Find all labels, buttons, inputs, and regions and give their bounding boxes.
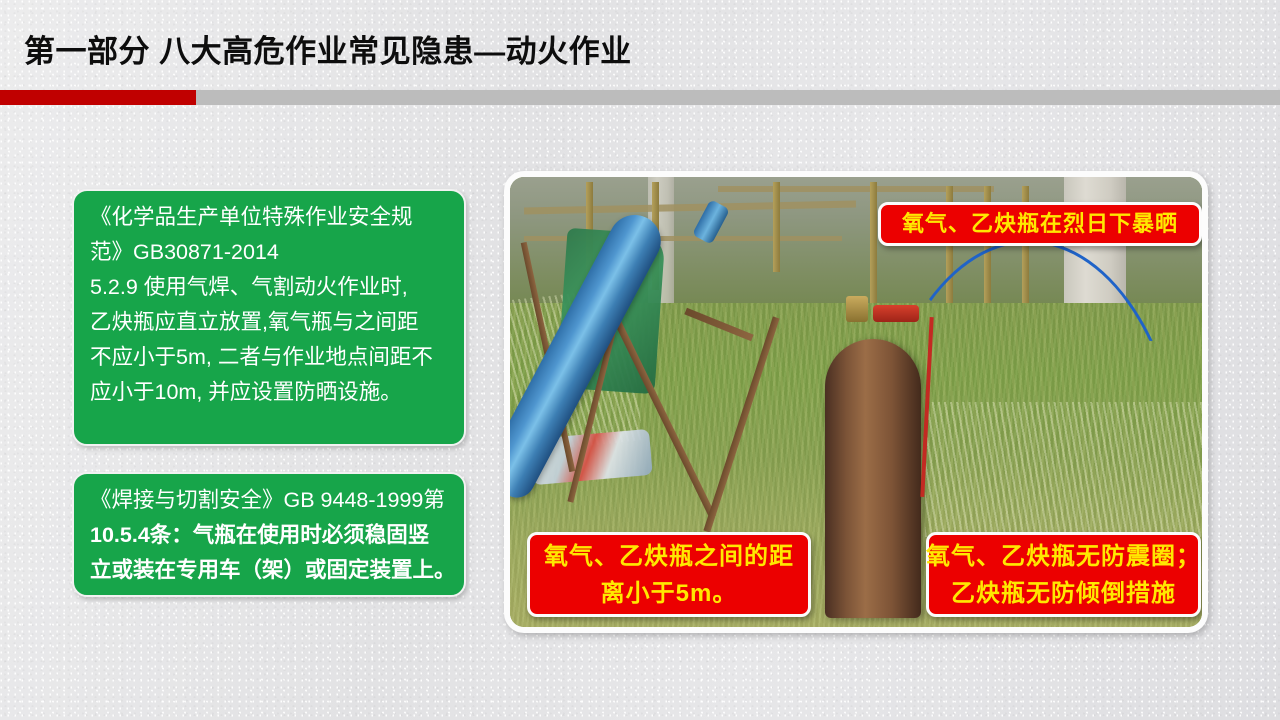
photo-scaffold-post xyxy=(870,182,877,317)
regulation-box-gb9448: 《焊接与切割安全》GB 9448-1999第 10.5.4条：气瓶在使用时必须稳… xyxy=(72,472,466,597)
callout-line: 离小于5m。 xyxy=(601,575,738,612)
slide-canvas: 第一部分 八大高危作业常见隐患—动火作业 《化学品生产单位特殊作业安全规 范》G… xyxy=(0,0,1280,720)
divider-track-segment xyxy=(196,90,1280,105)
regulation-line: 乙炔瓶应直立放置,氧气瓶与之间距 xyxy=(90,305,450,340)
regulation-line: 范》GB30871-2014 xyxy=(90,235,450,270)
callout-sun-exposure: 氧气、乙炔瓶在烈日下暴晒 xyxy=(878,202,1202,246)
callout-no-shock-ring: 氧气、乙炔瓶无防震圈； 乙炔瓶无防倾倒措施 xyxy=(926,532,1201,617)
photo-frame: 氧气、乙炔瓶在烈日下暴晒 氧气、乙炔瓶之间的距 离小于5m。 氧气、乙炔瓶无防震… xyxy=(504,171,1208,633)
callout-line: 氧气、乙炔瓶在烈日下暴晒 xyxy=(902,211,1178,237)
regulation-line: 立或装在专用车（架）或固定装置上。 xyxy=(90,553,450,588)
divider-accent-segment xyxy=(0,90,196,105)
regulation-box-gb30871: 《化学品生产单位特殊作业安全规 范》GB30871-2014 5.2.9 使用气… xyxy=(72,189,466,446)
photo-scaffold-post xyxy=(773,182,780,272)
regulation-line: 不应小于5m, 二者与作业地点间距不 xyxy=(90,340,450,375)
regulation-line: 5.2.9 使用气焊、气割动火作业时, xyxy=(90,270,450,305)
site-photo: 氧气、乙炔瓶在烈日下暴晒 氧气、乙炔瓶之间的距 离小于5m。 氧气、乙炔瓶无防震… xyxy=(510,177,1202,627)
page-title: 第一部分 八大高危作业常见隐患—动火作业 xyxy=(24,33,632,70)
title-divider-bar xyxy=(0,90,1280,105)
callout-line: 乙炔瓶无防倾倒措施 xyxy=(951,575,1176,612)
callout-line: 氧气、乙炔瓶无防震圈； xyxy=(926,538,1201,575)
regulation-line: 应小于10m, 并应设置防晒设施。 xyxy=(90,375,450,410)
regulation-line: 《化学品生产单位特殊作业安全规 xyxy=(90,200,450,235)
callout-line: 氧气、乙炔瓶之间的距 xyxy=(544,538,794,575)
callout-distance-under-5m: 氧气、乙炔瓶之间的距 离小于5m。 xyxy=(527,532,811,617)
photo-cylinder-valve xyxy=(846,296,868,322)
photo-valve-handwheel xyxy=(873,305,919,322)
regulation-line: 10.5.4条：气瓶在使用时必须稳固竖 xyxy=(90,518,450,553)
regulation-line: 《焊接与切割安全》GB 9448-1999第 xyxy=(90,483,450,518)
